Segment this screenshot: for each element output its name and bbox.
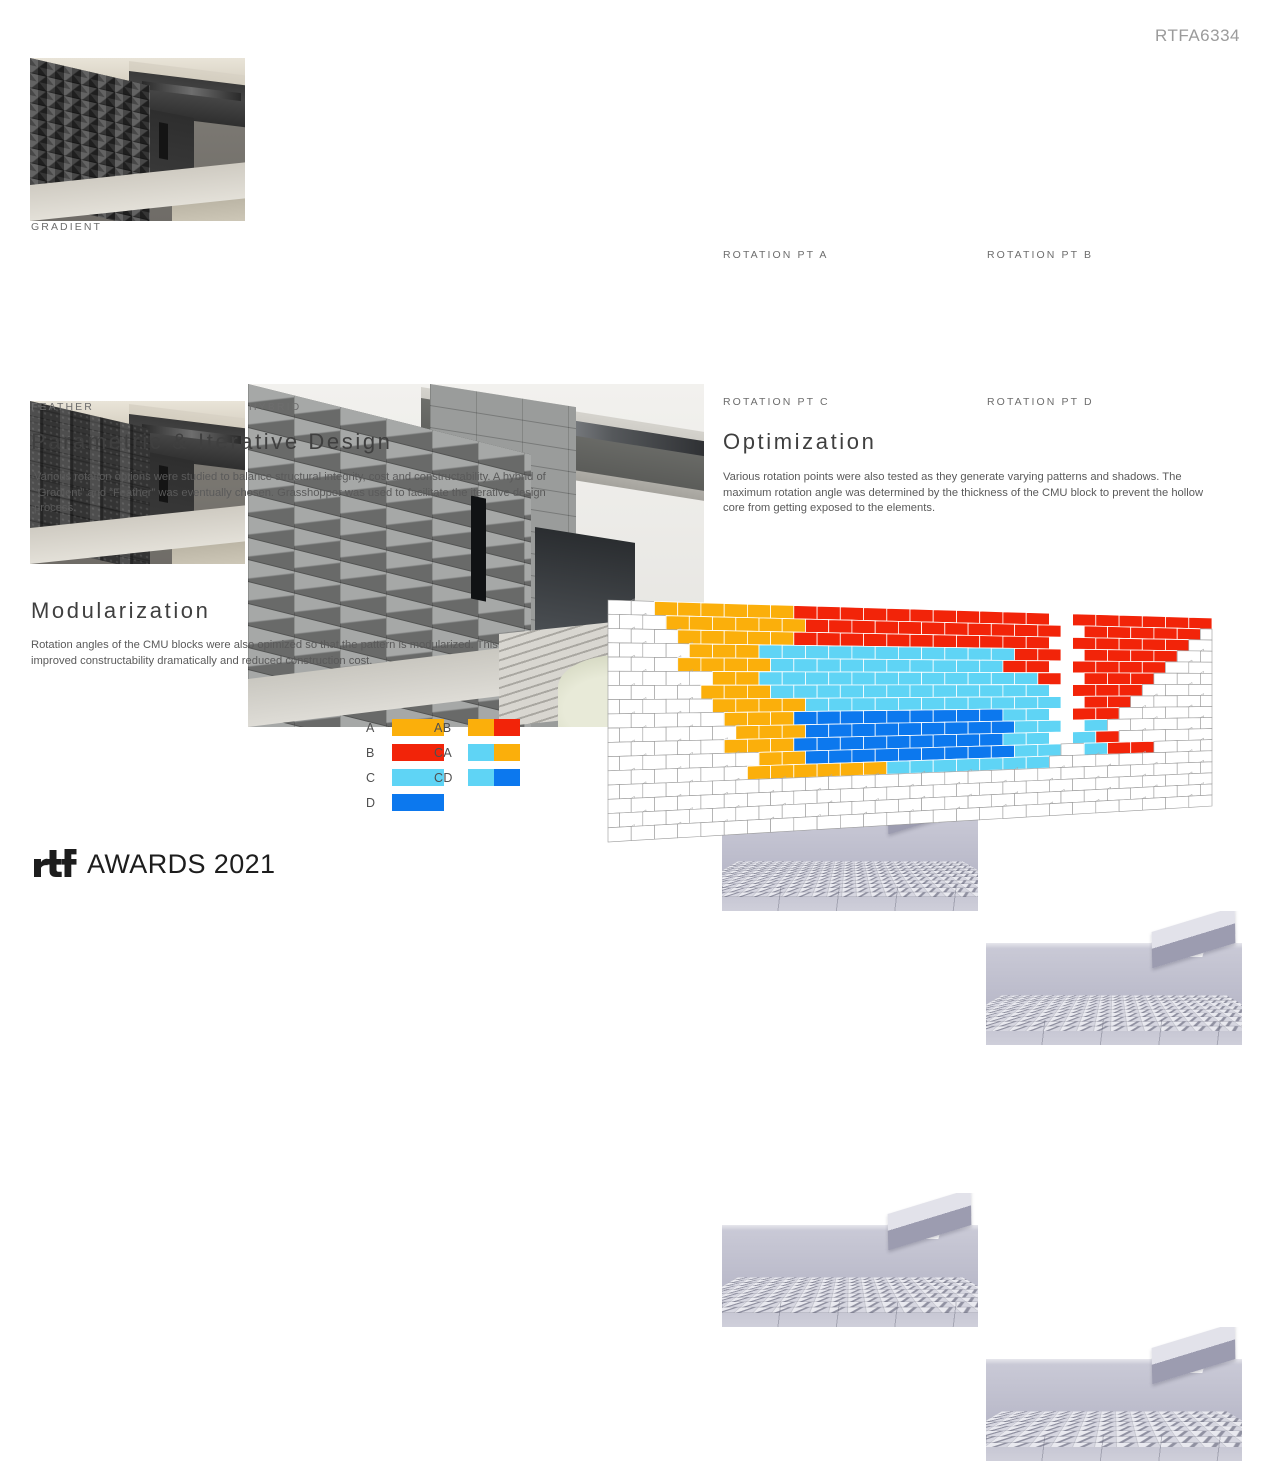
brick-cell bbox=[655, 601, 678, 616]
brick-cell bbox=[817, 789, 840, 803]
brick-cell bbox=[782, 672, 805, 685]
brick-cell bbox=[724, 604, 747, 618]
brick-cell bbox=[968, 672, 991, 684]
brick-cell bbox=[922, 697, 945, 710]
brick-cell bbox=[1119, 730, 1142, 742]
rtf-logo-icon bbox=[33, 848, 79, 878]
brick-cell bbox=[701, 713, 724, 727]
swatch-fill-left bbox=[468, 719, 494, 736]
brick-cell bbox=[1142, 730, 1165, 742]
image-rotation-pt-c bbox=[722, 1193, 978, 1327]
brick-cell bbox=[620, 615, 643, 630]
brick-cell bbox=[1108, 696, 1131, 708]
brick-cell bbox=[840, 633, 863, 646]
brick-cell bbox=[968, 623, 991, 636]
brick-cell bbox=[829, 698, 852, 711]
brick-cell bbox=[957, 734, 980, 747]
brick-cell bbox=[666, 782, 689, 797]
brick-cell bbox=[864, 813, 887, 827]
brick-cell bbox=[713, 807, 736, 822]
brick-cell bbox=[1142, 798, 1165, 811]
brick-cell bbox=[666, 754, 689, 769]
brick-cell bbox=[620, 756, 643, 771]
brick-cell bbox=[1189, 795, 1212, 808]
brick-cell bbox=[631, 769, 654, 784]
brick-cell bbox=[806, 646, 829, 659]
brick-cell bbox=[1177, 628, 1200, 640]
brick-cell bbox=[864, 787, 887, 801]
brick-cell bbox=[817, 711, 840, 725]
brick-cell bbox=[689, 754, 712, 768]
brick-cell bbox=[678, 740, 701, 754]
brick-cell bbox=[933, 710, 956, 723]
brick-cell bbox=[713, 780, 736, 795]
brick-cell bbox=[852, 698, 875, 711]
caption-rotation-pt-a: ROTATION PT A bbox=[723, 249, 828, 261]
brick-cell bbox=[1084, 626, 1107, 638]
brick-cell bbox=[701, 658, 724, 672]
brick-cell bbox=[771, 818, 794, 833]
brick-cell bbox=[1026, 732, 1049, 745]
brick-cell bbox=[1166, 774, 1189, 786]
brick-cell bbox=[608, 770, 631, 785]
brick-cell bbox=[852, 672, 875, 685]
brick-cell bbox=[887, 608, 910, 621]
brick-cell bbox=[1003, 636, 1026, 649]
brick-cell bbox=[1189, 729, 1212, 741]
brick-cell bbox=[655, 685, 678, 699]
brick-cell bbox=[945, 722, 968, 735]
brick-cell bbox=[666, 699, 689, 713]
brick-cell bbox=[1200, 629, 1212, 640]
brick-cell bbox=[922, 672, 945, 685]
brick-cell bbox=[759, 725, 782, 739]
brick-cell bbox=[1026, 661, 1049, 673]
brick-cell bbox=[829, 646, 852, 659]
brick-cell bbox=[875, 672, 898, 685]
brick-cell bbox=[852, 646, 875, 659]
brick-cell bbox=[1177, 718, 1200, 730]
brick-cell bbox=[1108, 673, 1131, 685]
brick-cell bbox=[1177, 673, 1200, 684]
brick-cell bbox=[643, 727, 666, 742]
brick-cell bbox=[840, 711, 863, 724]
foreground-course bbox=[986, 1020, 1242, 1045]
brick-cell bbox=[806, 698, 829, 711]
brick-cell bbox=[864, 736, 887, 749]
brick-cell bbox=[887, 786, 910, 800]
brick-cell bbox=[678, 685, 701, 699]
brick-cell bbox=[887, 659, 910, 672]
brick-cell bbox=[910, 735, 933, 748]
brick-cell bbox=[1166, 684, 1189, 695]
brick-cell bbox=[1200, 784, 1212, 796]
brick-cell bbox=[1061, 743, 1084, 756]
brick-cell bbox=[608, 827, 631, 843]
legend-item: D bbox=[366, 793, 444, 812]
brick-cell bbox=[1166, 639, 1189, 651]
brick-cell bbox=[840, 814, 863, 828]
brick-cell bbox=[620, 812, 643, 827]
brick-cell bbox=[655, 713, 678, 727]
brick-cell bbox=[689, 808, 712, 823]
legend-swatch bbox=[468, 719, 520, 736]
brick-cell bbox=[1200, 740, 1212, 752]
brick-cell bbox=[875, 698, 898, 711]
brick-cell bbox=[759, 805, 782, 820]
brick-cell bbox=[736, 752, 759, 766]
brick-cell bbox=[782, 777, 805, 791]
brick-cell bbox=[991, 697, 1014, 709]
brick-cell bbox=[678, 823, 701, 838]
brick-cell bbox=[782, 619, 805, 633]
brick-cell bbox=[643, 671, 666, 685]
brick-cell bbox=[666, 616, 689, 630]
brick-cell bbox=[771, 765, 794, 779]
brick-cell bbox=[1131, 673, 1154, 685]
brick-cell bbox=[1096, 661, 1119, 673]
brick-cell bbox=[991, 721, 1014, 734]
brick-cell bbox=[1073, 685, 1096, 697]
section-title-optimization: Optimization bbox=[723, 429, 876, 455]
brick-cell bbox=[713, 672, 736, 686]
caption-gradient: GRADIENT bbox=[31, 221, 102, 233]
brick-cell bbox=[689, 781, 712, 796]
brick-cell bbox=[1084, 789, 1107, 802]
brick-cell bbox=[782, 645, 805, 659]
brick-cell bbox=[922, 797, 945, 811]
brick-cell bbox=[898, 647, 921, 660]
brick-cell bbox=[957, 660, 980, 673]
brick-cell bbox=[1154, 718, 1177, 730]
brick-cell bbox=[1096, 708, 1119, 720]
brick-cell bbox=[1177, 740, 1200, 752]
brick-cell bbox=[631, 797, 654, 812]
brick-cell bbox=[817, 763, 840, 777]
brick-cell bbox=[991, 794, 1014, 807]
brick-cell bbox=[713, 699, 736, 713]
brick-cell bbox=[1200, 718, 1212, 729]
brick-cell bbox=[666, 644, 689, 658]
brick-cell bbox=[631, 741, 654, 756]
brick-cell bbox=[608, 614, 620, 629]
brick-cell bbox=[608, 756, 620, 771]
section-title-parametric: Parametric & Iterative Design bbox=[31, 429, 393, 455]
brick-cell bbox=[1177, 651, 1200, 662]
brick-cell bbox=[608, 742, 631, 757]
brick-cell bbox=[1015, 673, 1038, 685]
brick-cell bbox=[864, 711, 887, 724]
brick-cell bbox=[1131, 741, 1154, 753]
brick-cell bbox=[1200, 651, 1212, 662]
brick-cell bbox=[980, 685, 1003, 697]
brick-cell bbox=[608, 643, 620, 657]
brick-cell bbox=[1108, 765, 1131, 778]
brick-cell bbox=[840, 762, 863, 776]
brick-cell bbox=[794, 738, 817, 752]
brick-cell bbox=[898, 798, 921, 812]
brick-cell bbox=[806, 672, 829, 685]
swatch-fill-right bbox=[494, 719, 520, 736]
brick-cell bbox=[1015, 648, 1038, 660]
brick-cell bbox=[1038, 625, 1061, 637]
brick-cell bbox=[840, 607, 863, 621]
brick-cell bbox=[980, 709, 1003, 722]
brick-cell bbox=[1003, 709, 1026, 721]
brick-cell bbox=[608, 671, 620, 685]
brick-cell bbox=[1073, 755, 1096, 768]
brick-cell bbox=[1166, 752, 1189, 764]
brick-cell bbox=[991, 673, 1014, 685]
brick-cell bbox=[1189, 662, 1212, 673]
brick-cell bbox=[1108, 627, 1131, 639]
brick-cell bbox=[922, 622, 945, 635]
brick-cell bbox=[1026, 685, 1049, 697]
brick-cell bbox=[1177, 762, 1200, 774]
brick-cell bbox=[1189, 684, 1212, 695]
brick-cell bbox=[1142, 752, 1165, 764]
brick-cell bbox=[840, 788, 863, 802]
brick-cell bbox=[898, 697, 921, 710]
brick-cell bbox=[957, 610, 980, 623]
brick-cell bbox=[875, 621, 898, 634]
brick-cell bbox=[689, 644, 712, 658]
brick-cell bbox=[887, 761, 910, 775]
legend-swatch bbox=[468, 769, 520, 786]
brick-cell bbox=[1189, 751, 1212, 763]
brick-cell bbox=[608, 600, 631, 615]
brick-cell bbox=[759, 698, 782, 712]
brick-cell bbox=[608, 785, 620, 800]
legend-column-single: A B C D bbox=[366, 718, 444, 818]
swatch-fill-left bbox=[468, 769, 494, 786]
swatch-fill-left bbox=[468, 744, 494, 761]
brick-cell bbox=[747, 604, 770, 618]
brick-cell bbox=[1026, 804, 1049, 817]
brick-cell bbox=[1189, 640, 1212, 652]
brick-cell bbox=[898, 773, 921, 787]
brick-cell bbox=[724, 766, 747, 780]
brick-cell bbox=[968, 795, 991, 809]
brick-cell bbox=[980, 660, 1003, 672]
brick-cell bbox=[794, 632, 817, 646]
section-body-optimization: Various rotation points were also tested… bbox=[723, 470, 1215, 517]
legend-key: D bbox=[366, 796, 392, 810]
brick-cell bbox=[678, 795, 701, 810]
brick-cell bbox=[620, 728, 643, 743]
brick-cell bbox=[701, 603, 724, 617]
legend-item: C bbox=[366, 768, 444, 787]
brick-cell bbox=[922, 722, 945, 735]
brick-cell bbox=[736, 672, 759, 686]
brick-cell bbox=[689, 616, 712, 630]
brick-cell bbox=[1015, 697, 1038, 709]
brick-cell bbox=[1096, 800, 1119, 813]
legend-item: CA bbox=[434, 743, 520, 762]
brick-cell bbox=[887, 811, 910, 825]
footer-text: AWARDS 2021 bbox=[87, 851, 275, 878]
brick-cell bbox=[898, 672, 921, 685]
legend-key: B bbox=[366, 746, 392, 760]
section-body-modularization: Rotation angles of the CMU blocks were a… bbox=[31, 638, 536, 669]
brick-cell bbox=[1084, 743, 1107, 755]
brick-cell bbox=[724, 631, 747, 645]
brick-cell bbox=[1131, 787, 1154, 800]
brick-cell bbox=[759, 645, 782, 659]
brick-cell bbox=[747, 739, 770, 753]
brick-cell bbox=[1038, 697, 1061, 709]
brick-cell bbox=[957, 685, 980, 697]
brick-cell bbox=[1154, 763, 1177, 775]
brick-cell bbox=[724, 658, 747, 672]
brick-cell bbox=[1015, 792, 1038, 805]
brick-cell bbox=[1166, 729, 1189, 741]
brick-cell bbox=[945, 697, 968, 710]
brick-cell bbox=[957, 635, 980, 648]
brick-cell bbox=[1166, 707, 1189, 719]
brick-cell bbox=[957, 783, 980, 796]
brick-cell bbox=[1015, 721, 1038, 734]
brick-cell bbox=[608, 629, 631, 644]
brick-cell bbox=[968, 721, 991, 734]
brick-cell bbox=[933, 610, 956, 623]
brick-cell bbox=[1119, 615, 1142, 627]
brick-cell bbox=[1096, 731, 1119, 743]
brick-cell bbox=[1084, 766, 1107, 779]
brick-cell bbox=[1003, 805, 1026, 819]
brick-cell bbox=[747, 658, 770, 672]
brick-cell bbox=[1142, 639, 1165, 651]
modularization-brick-diagram bbox=[600, 592, 1220, 850]
brick-cell bbox=[933, 660, 956, 673]
brick-cell bbox=[1026, 780, 1049, 793]
brick-cell bbox=[875, 774, 898, 788]
legend-swatch bbox=[468, 744, 520, 761]
brick-cell bbox=[701, 767, 724, 782]
brick-cell bbox=[829, 776, 852, 790]
brick-cell bbox=[701, 685, 724, 699]
brick-cell bbox=[945, 747, 968, 760]
brick-cell bbox=[713, 753, 736, 767]
brick-cell bbox=[852, 749, 875, 763]
brick-cell bbox=[655, 741, 678, 756]
brick-cell bbox=[1073, 614, 1096, 626]
brick-cell bbox=[620, 784, 643, 799]
brick-cell bbox=[980, 758, 1003, 771]
brick-cell bbox=[806, 777, 829, 791]
brick-cell bbox=[631, 713, 654, 727]
brick-cell bbox=[643, 811, 666, 826]
brick-cell bbox=[1119, 685, 1142, 697]
brick-cell bbox=[771, 791, 794, 805]
brick-cell bbox=[1131, 696, 1154, 708]
brick-cell bbox=[922, 647, 945, 660]
brick-cell bbox=[608, 685, 631, 699]
brick-cell bbox=[736, 779, 759, 794]
brick-cell bbox=[1073, 801, 1096, 814]
section-title-modularization: Modularization bbox=[31, 598, 210, 624]
brick-cell bbox=[1049, 755, 1072, 768]
brick-cell bbox=[1189, 617, 1212, 629]
brick-cell bbox=[666, 810, 689, 825]
brick-cell bbox=[864, 762, 887, 776]
brick-cell bbox=[1096, 777, 1119, 790]
caption-rotation-pt-c: ROTATION PT C bbox=[723, 396, 830, 408]
brick-cell bbox=[933, 809, 956, 823]
brick-cell bbox=[910, 785, 933, 799]
brick-cell bbox=[817, 685, 840, 698]
brick-diagram-canvas bbox=[600, 592, 1220, 850]
brick-cell bbox=[852, 723, 875, 736]
brick-cell bbox=[1096, 638, 1119, 650]
brick-cell bbox=[957, 758, 980, 771]
legend-item: AB bbox=[434, 718, 520, 737]
brick-cell bbox=[933, 759, 956, 772]
brick-cell bbox=[829, 724, 852, 738]
brick-cell bbox=[1154, 741, 1177, 753]
brick-cell bbox=[736, 699, 759, 713]
swatch-fill-right bbox=[494, 744, 520, 761]
brick-cell bbox=[747, 819, 770, 834]
brick-cell bbox=[782, 751, 805, 765]
brick-cell bbox=[747, 712, 770, 726]
brick-cell bbox=[666, 727, 689, 741]
brick-cell bbox=[724, 739, 747, 753]
brick-cell bbox=[1073, 731, 1096, 743]
brick-cell bbox=[759, 672, 782, 685]
brick-cell bbox=[933, 784, 956, 798]
brick-cell bbox=[759, 752, 782, 766]
brick-cell bbox=[713, 726, 736, 740]
legend-item: B bbox=[366, 743, 444, 762]
brick-cell bbox=[991, 648, 1014, 660]
legend-key: AB bbox=[434, 721, 468, 735]
brick-cell bbox=[736, 617, 759, 631]
brick-cell bbox=[1015, 624, 1038, 637]
brick-cell bbox=[1108, 788, 1131, 801]
brick-cell bbox=[898, 723, 921, 736]
brick-cell bbox=[1119, 799, 1142, 812]
section-body-parametric: Various rotation options were studied to… bbox=[34, 470, 550, 517]
brick-cell bbox=[1166, 796, 1189, 809]
brick-cell bbox=[980, 611, 1003, 624]
brick-cell bbox=[1200, 695, 1212, 706]
brick-cell bbox=[724, 820, 747, 835]
brick-cell bbox=[829, 750, 852, 764]
brick-cell bbox=[701, 740, 724, 754]
brick-cell bbox=[1049, 803, 1072, 816]
image-rotation-pt-d bbox=[986, 1327, 1242, 1461]
brick-cell bbox=[1154, 786, 1177, 799]
board-code: RTFA6334 bbox=[1155, 26, 1240, 46]
brick-cell bbox=[875, 647, 898, 660]
brick-cell bbox=[643, 699, 666, 713]
brick-cell bbox=[724, 793, 747, 808]
brick-cell bbox=[980, 806, 1003, 820]
brick-cell bbox=[1038, 649, 1061, 661]
brick-cell bbox=[701, 630, 724, 644]
brick-cell bbox=[887, 685, 910, 698]
caption-rotation-pt-b: ROTATION PT B bbox=[987, 249, 1093, 261]
footer: AWARDS 2021 bbox=[33, 848, 275, 878]
brick-cell bbox=[817, 606, 840, 620]
brick-cell bbox=[1026, 709, 1049, 721]
brick-cell bbox=[1108, 650, 1131, 662]
brick-cell bbox=[1200, 762, 1212, 774]
image-gradient bbox=[30, 58, 245, 221]
brick-cell bbox=[806, 724, 829, 738]
brick-cell bbox=[887, 736, 910, 749]
